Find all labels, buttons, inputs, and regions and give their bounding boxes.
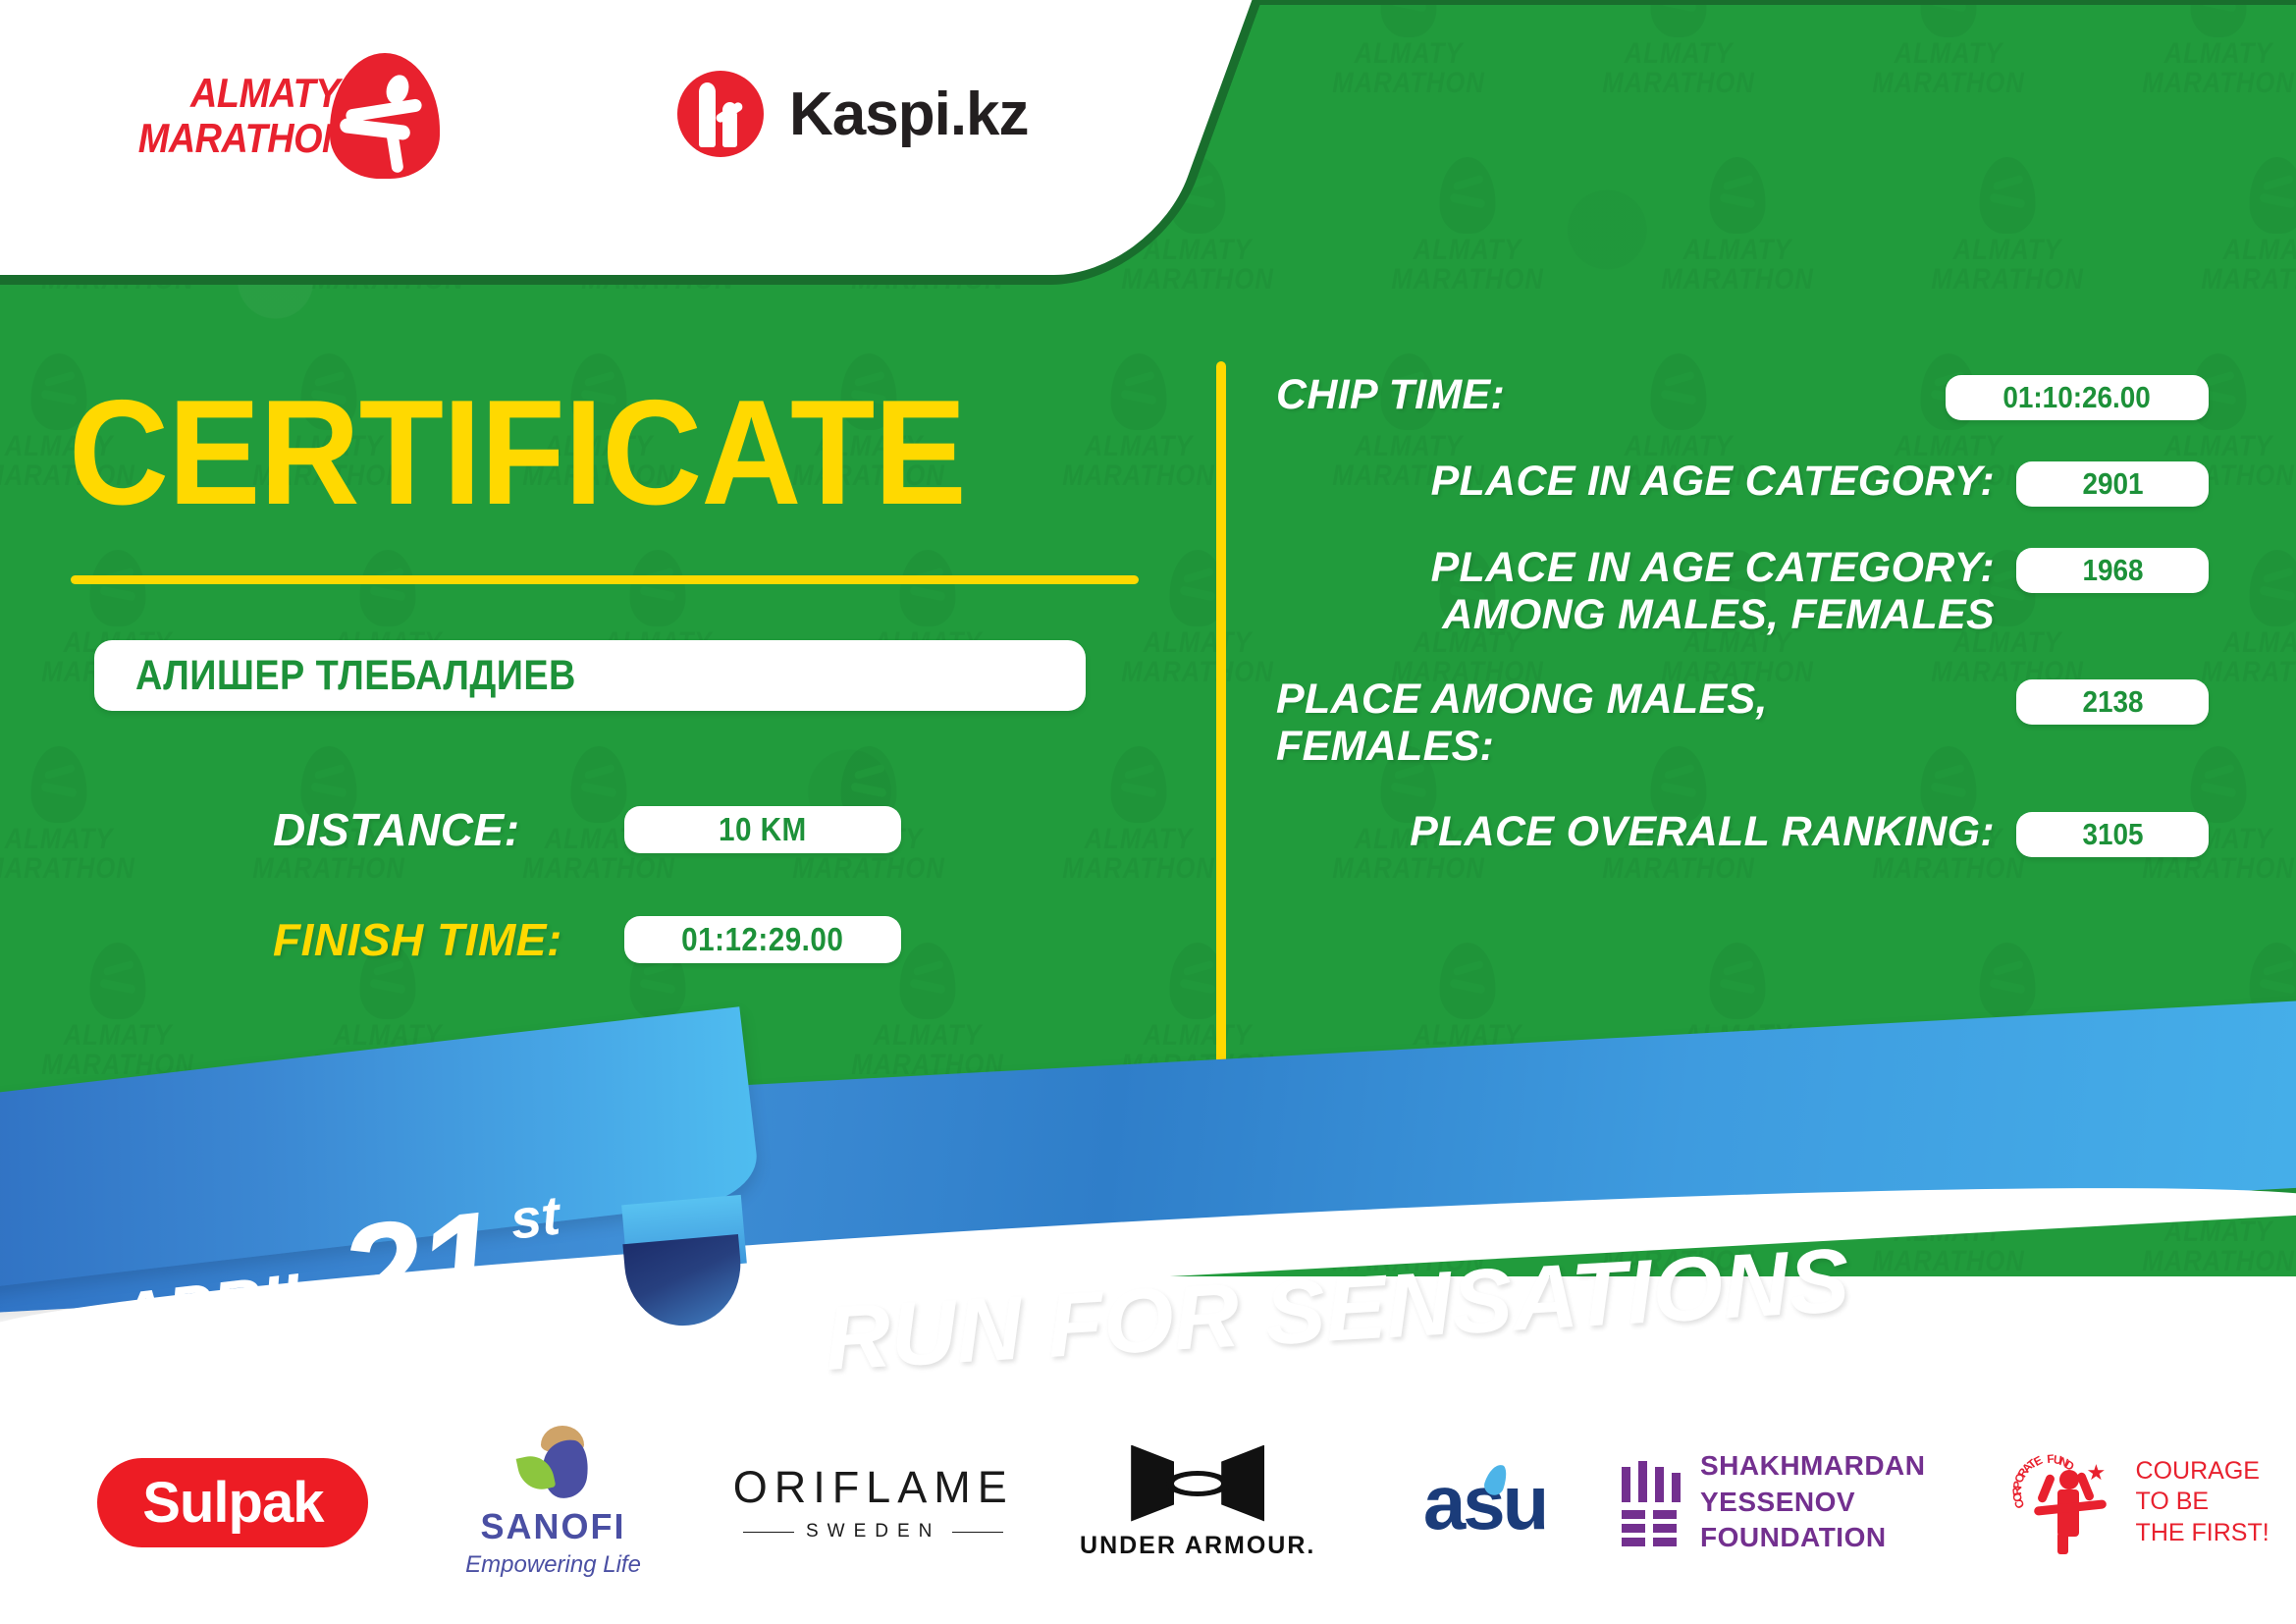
courage-leg-shape [2057, 1533, 2068, 1554]
certificate-page: ALMATYMARATHONALMATYMARATHONALMATYMARATH… [0, 0, 2296, 1624]
ribbon-fold-dark [622, 1234, 745, 1330]
athlete-name-field: АЛИШЕР ТЛЕБАЛДИЕВ [94, 640, 1086, 711]
almaty-logo-line2: MARATHON [138, 116, 340, 161]
results-column: CHIP TIME:01:10:26.00PLACE IN AGE CATEGO… [1276, 371, 2209, 894]
event-day-suffix: st [507, 1183, 563, 1252]
under-armour-wordmark: UNDER ARMOUR. [1080, 1532, 1315, 1560]
sulpak-wordmark: Sulpak [97, 1458, 368, 1547]
under-armour-icon [1131, 1445, 1264, 1522]
sanofi-icon [511, 1426, 596, 1500]
kaspi-wordmark: Kaspi.kz [789, 80, 1029, 149]
yessenov-bars-icon [1622, 1461, 1675, 1543]
title-underline-rule [71, 575, 1139, 584]
result-value: 01:10:26.00 [2003, 380, 2151, 415]
result-label: PLACE AMONG MALES,FEMALES: [1276, 676, 2016, 770]
finish-time-row: FINISH TIME: 01:12:29.00 [273, 913, 901, 966]
courage-star-icon: ★ [2087, 1462, 2107, 1484]
oriflame-wordmark: ORIFLAME [733, 1462, 1014, 1513]
kaspi-logo: Kaspi.kz [677, 71, 1029, 157]
vertical-divider [1216, 361, 1226, 1092]
sponsor-sulpak: Sulpak [79, 1429, 388, 1576]
sponsor-courage-fund: CORPORATE FUND ★ COURAGE TO BE THE FIRST… [1987, 1429, 2296, 1576]
courage-fund-icon: CORPORATE FUND ★ [2014, 1448, 2122, 1556]
kaspi-people-circle-icon [677, 71, 764, 157]
result-label-line2: AMONG MALES, FEMALES [1276, 591, 1995, 638]
sponsor-under-armour: UNDER ARMOUR. [1057, 1429, 1338, 1576]
result-label-line1: PLACE IN AGE CATEGORY: [1276, 544, 1995, 591]
event-ribbon: APRIL 21 st RUN FOR SENSATIONS [0, 1092, 2296, 1386]
kaspi-adult-body-shape [699, 86, 716, 147]
result-row: CHIP TIME:01:10:26.00 [1276, 371, 2209, 420]
event-month: APRIL [115, 1256, 327, 1355]
result-value-pill: 2901 [2016, 461, 2209, 507]
result-label: PLACE OVERALL RANKING: [1276, 808, 2016, 855]
yessenov-line2: FOUNDATION [1700, 1520, 1977, 1555]
sponsor-yessenov-foundation: SHAKHMARDAN YESSENOV FOUNDATION [1622, 1429, 1977, 1576]
yessenov-line1: SHAKHMARDAN YESSENOV [1700, 1448, 1977, 1520]
courage-line1: COURAGE [2136, 1456, 2269, 1487]
almaty-marathon-wordmark: ALMATY MARATHON [116, 71, 340, 161]
finish-time-value-pill: 01:12:29.00 [624, 916, 901, 963]
result-row: PLACE IN AGE CATEGORY:AMONG MALES, FEMAL… [1276, 544, 2209, 638]
finish-time-label: FINISH TIME: [273, 913, 624, 966]
courage-head-shape [2059, 1470, 2079, 1489]
result-row: PLACE AMONG MALES,FEMALES:2138 [1276, 676, 2209, 770]
runner-torso-shape [339, 118, 410, 141]
sanofi-wordmark: SANOFI [465, 1506, 641, 1547]
running-figure-drop-icon [330, 53, 440, 179]
result-value: 2138 [2082, 684, 2143, 720]
oriflame-rule-left [743, 1532, 794, 1533]
result-row: PLACE IN AGE CATEGORY:2901 [1276, 458, 2209, 507]
asu-wordmark: asu [1423, 1458, 1546, 1547]
result-value: 1968 [2082, 553, 2143, 588]
distance-value-pill: 10 KM [624, 806, 901, 853]
distance-value: 10 KM [719, 811, 807, 848]
result-label: PLACE IN AGE CATEGORY:AMONG MALES, FEMAL… [1276, 544, 2016, 638]
result-value-pill: 01:10:26.00 [1946, 375, 2209, 420]
finish-time-value: 01:12:29.00 [681, 921, 843, 958]
sponsor-oriflame: ORIFLAME SWEDEN [719, 1429, 1028, 1576]
page-title: CERTIFICATE [69, 378, 966, 527]
oriflame-rule-right [952, 1532, 1003, 1533]
result-value-pill: 3105 [2016, 812, 2209, 857]
sponsor-sanofi: SANOFI Empowering Life [427, 1429, 680, 1576]
sponsor-bar: Sulpak SANOFI Empowering Life ORIFLAME S… [0, 1414, 2296, 1591]
oriflame-subline: SWEDEN [733, 1521, 1014, 1543]
result-value-pill: 2138 [2016, 679, 2209, 725]
event-day: 21 [334, 1196, 504, 1343]
asu-text: asu [1423, 1459, 1546, 1545]
courage-line3: THE FIRST! [2136, 1518, 2269, 1548]
courage-line2: TO BE [2136, 1487, 2269, 1517]
athlete-name-value: АЛИШЕР ТЛЕБАЛДИЕВ [135, 652, 576, 700]
result-label: PLACE IN AGE CATEGORY: [1276, 458, 2016, 505]
result-label: CHIP TIME: [1276, 371, 1946, 418]
sanofi-tagline: Empowering Life [465, 1551, 641, 1579]
distance-label: DISTANCE: [273, 803, 624, 856]
almaty-marathon-logo: ALMATY MARATHON [116, 59, 440, 167]
oriflame-sub-text: SWEDEN [806, 1521, 940, 1543]
result-row: PLACE OVERALL RANKING:3105 [1276, 808, 2209, 857]
ua-center-hole-shape [1174, 1476, 1221, 1491]
sponsor-asu: asu [1367, 1429, 1601, 1576]
almaty-logo-line1: ALMATY [138, 71, 340, 116]
result-label-line1: PLACE AMONG MALES, [1276, 676, 1995, 723]
result-value-pill: 1968 [2016, 548, 2209, 593]
distance-row: DISTANCE: 10 KM [273, 803, 901, 856]
result-value: 3105 [2082, 817, 2143, 852]
result-value: 2901 [2082, 466, 2143, 502]
result-label-line2: FEMALES: [1276, 723, 1995, 770]
